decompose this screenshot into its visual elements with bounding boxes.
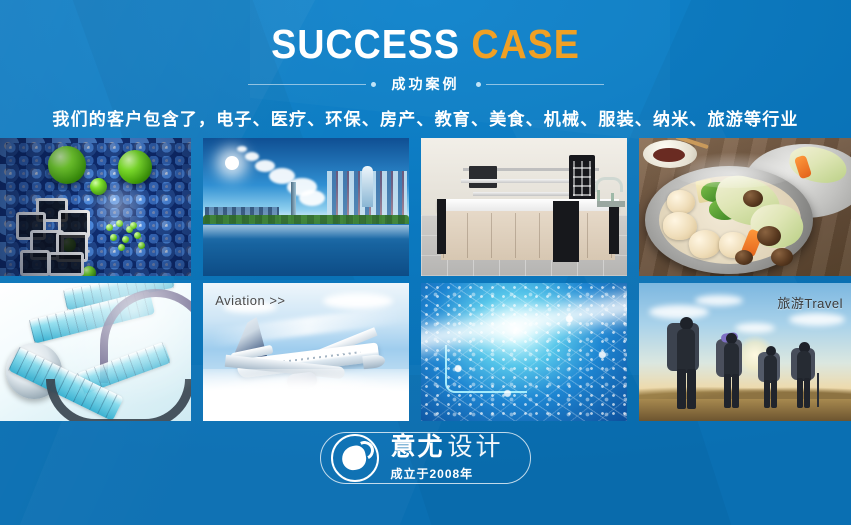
bench-end-panel [553, 201, 579, 262]
aircraft-nose [362, 354, 385, 370]
image-highlight [0, 283, 191, 421]
aviation-caption: Aviation >> [215, 293, 285, 308]
decorative-line-left [248, 82, 376, 87]
title-success: SUCCESS [271, 21, 460, 67]
lead-paragraph: 我们的客户包含了，电子、医疗、环保、房产、教育、美食、机械、服装、纳米、旅游等行… [0, 105, 851, 130]
gallery-row-1 [0, 138, 851, 276]
shiitake-mushroom [757, 226, 781, 246]
case-thumb-food[interactable] [639, 138, 851, 276]
lab-furniture-image [421, 138, 627, 276]
page-title: SUCCESS CASE [34, 22, 817, 66]
reagent-box [469, 166, 497, 188]
case-gallery: Aviation >> [0, 138, 851, 421]
hiker [715, 329, 747, 407]
shiitake-mushroom [743, 190, 763, 207]
brand-name: 意尤 设计 [390, 435, 503, 460]
title-case: CASE [471, 21, 579, 67]
bench-cabinets [441, 211, 615, 261]
sun [225, 156, 239, 170]
steam [669, 152, 799, 188]
sink [597, 201, 625, 207]
case-thumb-nanotech[interactable] [0, 138, 191, 276]
control-panel [569, 155, 595, 205]
case-thumb-medical[interactable] [0, 283, 191, 421]
electronics-image [421, 283, 627, 421]
subtitle-row: 成功案例 [0, 75, 851, 93]
environment-image [203, 138, 409, 276]
shiitake-mushroom [771, 248, 793, 266]
brand-text: 意尤 设计 成立于2008年 [390, 435, 503, 482]
shiitake-mushroom [735, 250, 753, 265]
case-thumb-lab-furniture[interactable] [421, 138, 627, 276]
medical-image [0, 283, 191, 421]
decorative-line-right [476, 82, 604, 87]
brand-name-bold: 意尤 [390, 435, 444, 460]
travel-caption: 旅游Travel [777, 293, 843, 312]
cloud-layer [203, 369, 409, 421]
brand-name-light: 设计 [448, 435, 504, 460]
footer: 意尤 设计 成立于2008年 [0, 432, 851, 484]
poster-canvas: SUCCESS CASE 成功案例 我们的客户包含了，电子、医疗、环保、房产、教… [0, 0, 851, 525]
gallery-row-2: Aviation >> [0, 283, 851, 421]
deco-dot [476, 82, 481, 87]
bench-countertop [437, 199, 619, 211]
bench-end-panel [437, 199, 446, 254]
established-year: 成立于2008年 [390, 465, 503, 482]
hiker [789, 339, 819, 407]
case-thumb-environment[interactable] [203, 138, 409, 276]
deco-line [248, 84, 366, 85]
cooling-tower [362, 166, 373, 207]
chicken-piece [667, 190, 695, 214]
deco-line [486, 84, 604, 85]
image-vignette [0, 138, 191, 276]
water-reflection [203, 225, 409, 239]
case-thumb-travel[interactable]: 旅游Travel [639, 283, 851, 421]
nanotech-image [0, 138, 191, 276]
bench-end-panel [609, 204, 619, 254]
subtitle-cn: 成功案例 [376, 74, 476, 94]
case-thumb-electronics[interactable] [421, 283, 627, 421]
mouse-logo-icon [331, 434, 379, 482]
food-image [639, 138, 851, 276]
gooseneck-faucet [595, 177, 623, 192]
hiker [665, 311, 705, 407]
case-thumb-aviation[interactable]: Aviation >> [203, 283, 409, 421]
header: SUCCESS CASE 成功案例 我们的客户包含了，电子、医疗、环保、房产、教… [0, 0, 851, 130]
hiker [757, 343, 785, 407]
brand-logo[interactable]: 意尤 设计 成立于2008年 [320, 432, 530, 484]
